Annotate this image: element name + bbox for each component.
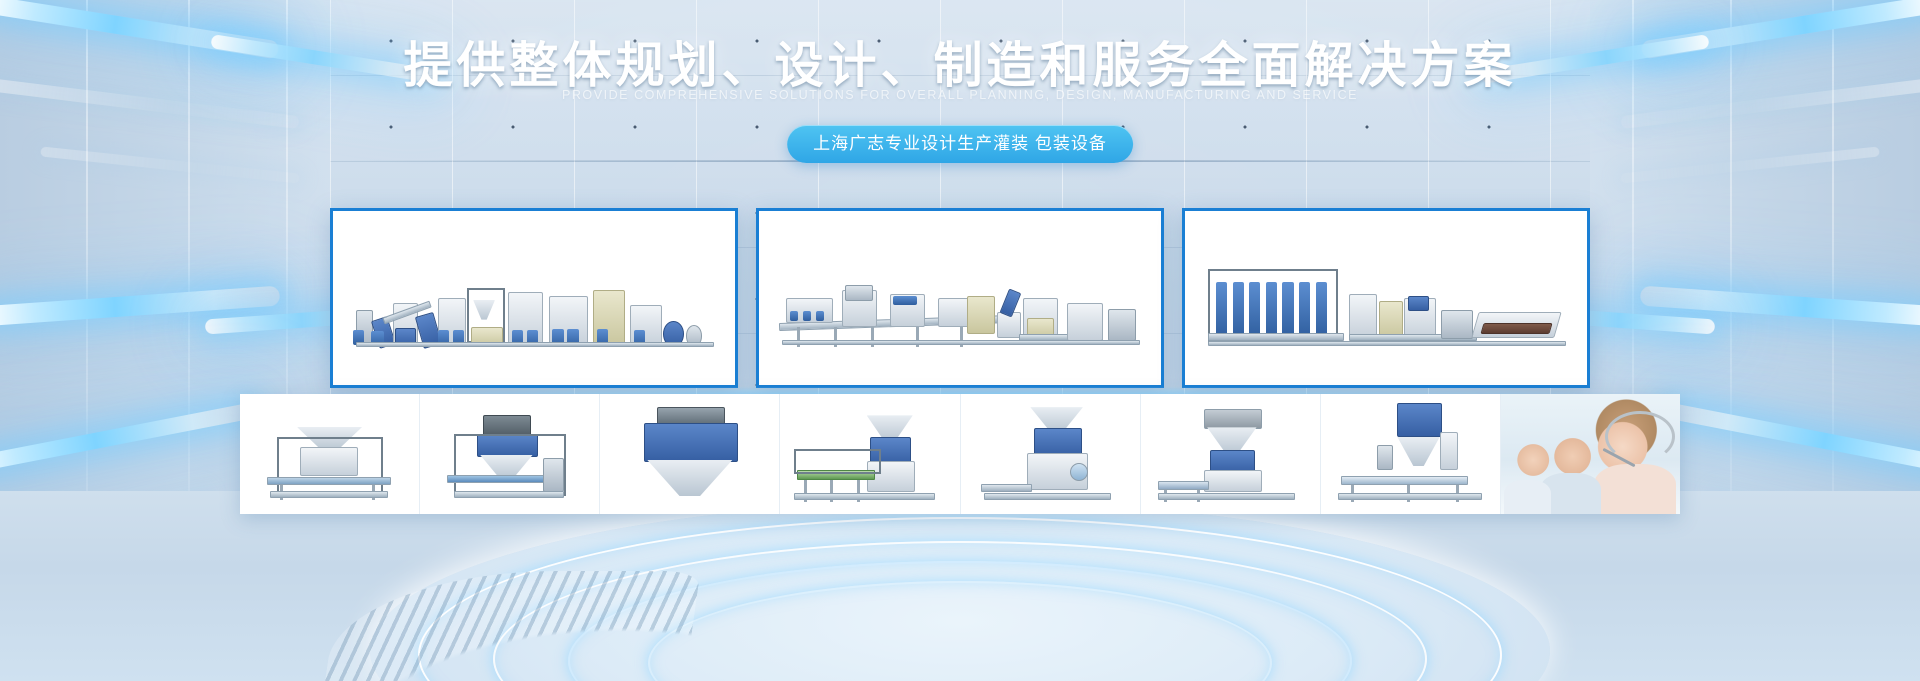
colleague-shoulders <box>1504 480 1551 514</box>
thumbnail-bag-packing-machine[interactable] <box>961 394 1141 514</box>
product-panel-palletizing-line[interactable] <box>1182 208 1590 388</box>
banner-root: 提供整体规划、设计、制造和服务全面解决方案 PROVIDE COMPREHENS… <box>0 0 1920 681</box>
thumbnail-bag-packing-conveyor-1[interactable] <box>780 394 960 514</box>
product-thumbnail-strip <box>240 394 1680 514</box>
product-panel-image <box>1185 211 1587 385</box>
thumbnail-bag-packing-conveyor-2[interactable] <box>1321 394 1501 514</box>
company-tagline-badge[interactable]: 上海广志专业设计生产灌装 包装设备 <box>787 125 1133 163</box>
page-subtitle: PROVIDE COMPREHENSIVE SOLUTIONS FOR OVER… <box>0 88 1920 102</box>
thumbnail-image <box>1321 394 1500 514</box>
thumbnail-image <box>240 394 419 514</box>
thumbnail-image <box>1141 394 1320 514</box>
thumbnail-valve-bag-packer[interactable] <box>1141 394 1321 514</box>
product-panel-image <box>333 211 735 385</box>
floor <box>0 491 1920 681</box>
thumbnail-powder-packing-machine-2[interactable] <box>420 394 600 514</box>
thumbnail-image <box>780 394 959 514</box>
page-title: 提供整体规划、设计、制造和服务全面解决方案 <box>0 26 1920 97</box>
customer-service-photo <box>1501 394 1680 514</box>
thumbnail-image <box>600 394 779 514</box>
agent-shoulders <box>1594 464 1676 514</box>
product-panel-group <box>330 208 1590 388</box>
product-panel-image <box>759 211 1161 385</box>
thumbnail-image <box>420 394 599 514</box>
thumbnail-image <box>961 394 1140 514</box>
product-panel-coating-line[interactable] <box>330 208 738 388</box>
product-panel-filling-line[interactable] <box>756 208 1164 388</box>
stage-stairs <box>319 571 700 681</box>
thumbnail-customer-service-team[interactable] <box>1501 394 1680 514</box>
thumbnail-powder-packing-machine-1[interactable] <box>240 394 420 514</box>
thumbnail-weighing-hopper[interactable] <box>600 394 780 514</box>
